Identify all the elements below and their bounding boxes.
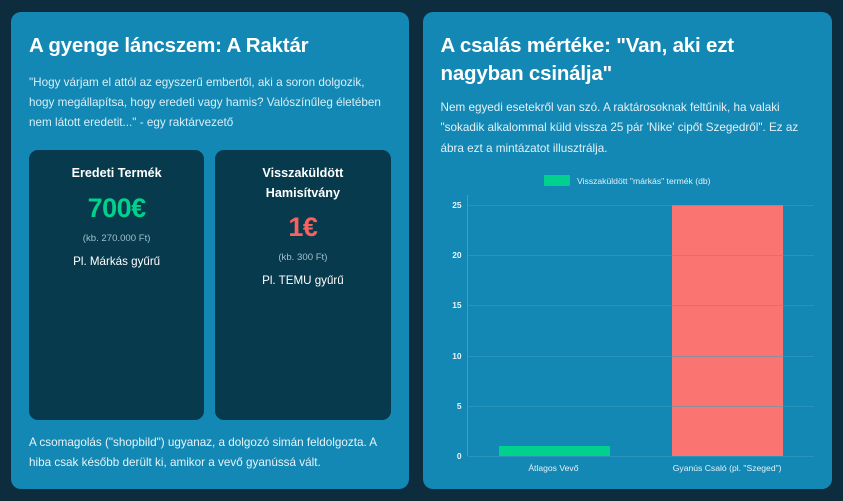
page-root: A gyenge láncszem: A Raktár "Hogy várjam… (0, 0, 843, 501)
y-axis-tick-label: 25 (452, 200, 461, 210)
bar-chart: Visszaküldött "márkás" termék (db) 05101… (441, 173, 814, 473)
left-panel-footer-note: A csomagolás ("shopbild") ugyanaz, a dol… (29, 433, 391, 473)
grid-line (468, 456, 814, 457)
card-price: 1€ (225, 212, 380, 243)
y-axis-tick-label: 0 (457, 451, 462, 461)
grid-line (468, 255, 814, 256)
card-example: Pl. Márkás gyűrű (39, 255, 194, 268)
grid-line (468, 406, 814, 407)
card-price: 700€ (39, 193, 194, 224)
card-example: Pl. TEMU gyűrű (225, 274, 380, 287)
left-panel: A gyenge láncszem: A Raktár "Hogy várjam… (11, 12, 409, 489)
chart-bars (468, 195, 814, 456)
card-label: Eredeti Termék (39, 164, 194, 184)
chart-plot-area: 0510152025 (467, 195, 814, 456)
bar-slot (468, 195, 641, 456)
bar-slot (641, 195, 814, 456)
chart-legend: Visszaküldött "márkás" termék (db) (441, 173, 814, 189)
comparison-cards: Eredeti Termék 700€ (kb. 270.000 Ft) Pl.… (29, 150, 391, 420)
bar-2[interactable] (672, 205, 783, 456)
card-price-huf: (kb. 270.000 Ft) (39, 233, 194, 244)
chart-x-axis-labels: Átlagos VevőGyanús Csaló (pl. "Szeged") (467, 463, 814, 473)
y-axis-tick-label: 10 (452, 351, 461, 361)
legend-label: Visszaküldött "márkás" termék (db) (577, 176, 710, 186)
grid-line (468, 356, 814, 357)
left-panel-title: A gyenge láncszem: A Raktár (29, 32, 391, 60)
x-axis-label: Gyanús Csaló (pl. "Szeged") (640, 463, 814, 473)
right-panel-title: A csalás mértéke: "Van, aki ezt nagyban … (441, 32, 814, 87)
card-original-product: Eredeti Termék 700€ (kb. 270.000 Ft) Pl.… (29, 150, 204, 420)
card-returned-counterfeit: Visszaküldött Hamisítvány 1€ (kb. 300 Ft… (215, 150, 390, 420)
y-axis-tick-label: 15 (452, 300, 461, 310)
left-panel-quote: "Hogy várjam el attól az egyszerű embert… (29, 73, 391, 133)
right-panel: A csalás mértéke: "Van, aki ezt nagyban … (423, 12, 832, 489)
y-axis-tick-label: 20 (452, 250, 461, 260)
grid-line (468, 305, 814, 306)
bar-1[interactable] (499, 446, 610, 456)
y-axis-tick-label: 5 (457, 401, 462, 411)
card-label: Visszaküldött Hamisítvány (225, 164, 380, 203)
right-panel-note: Nem egyedi esetekről van szó. A raktáros… (441, 98, 814, 158)
grid-line (468, 205, 814, 206)
x-axis-label: Átlagos Vevő (467, 463, 641, 473)
card-price-huf: (kb. 300 Ft) (225, 252, 380, 263)
legend-swatch-returned-items (544, 175, 570, 186)
